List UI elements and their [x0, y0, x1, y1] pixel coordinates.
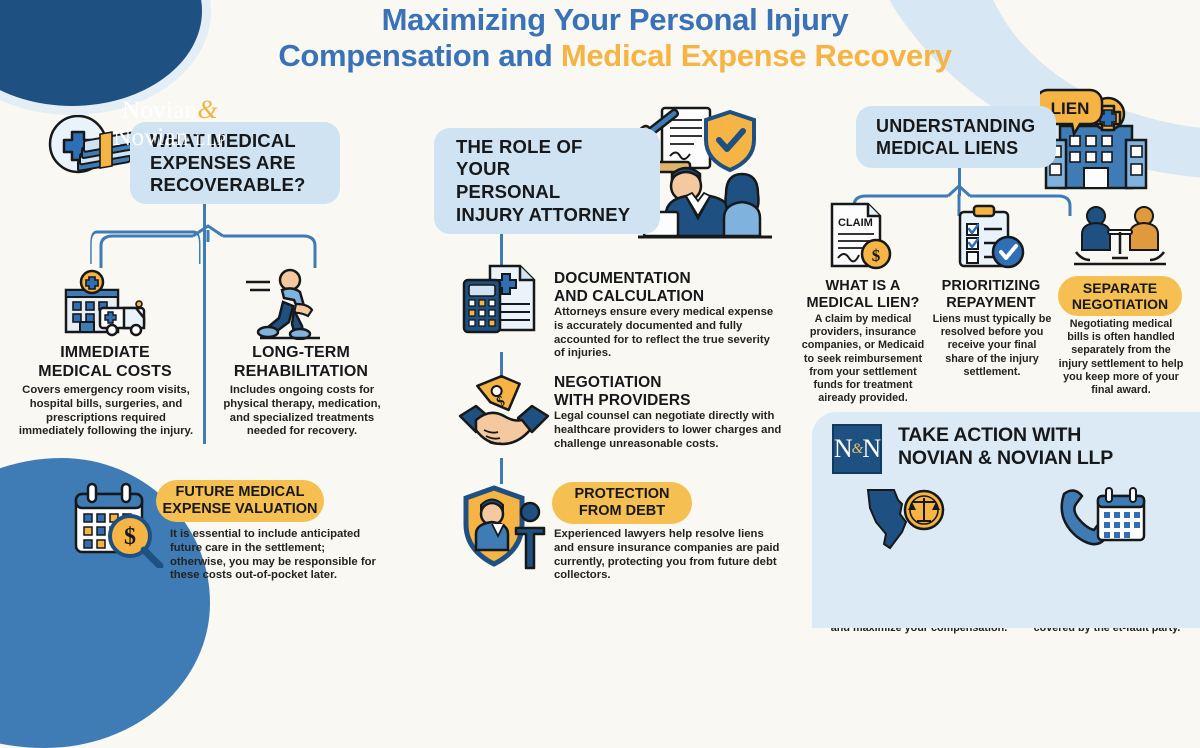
section-right-item-0-body: A claim by medical providers, insurance … — [798, 313, 928, 405]
section-middle-highlight-pill-line2: FROM DEBT — [574, 503, 669, 520]
brand-logo-badge — [0, 0, 202, 106]
section-middle-highlight-pill: PROTECTION FROM DEBT — [552, 482, 692, 524]
cta-heading: TAKE ACTION WITH NOVIAN & NOVIAN LLP — [898, 424, 1198, 471]
brand-logo-ampersand: & — [197, 95, 218, 124]
section-left-header-line3: RECOVERABLE? — [150, 174, 306, 196]
cta-brand-mark-n2: N — [862, 434, 880, 464]
section-middle-header-line4: INJURY ATTORNEY — [456, 204, 630, 227]
hospital-ambulance-icon — [58, 268, 154, 340]
section-middle-header-line1: THE ROLE OF — [456, 136, 630, 159]
section-middle-header-line3: PERSONAL — [456, 181, 630, 204]
section-right-header: UNDERSTANDING MEDICAL LIENS — [856, 106, 1056, 168]
rehabilitation-person-icon — [238, 268, 330, 340]
connector-left-branches — [93, 230, 323, 270]
svg-text:CLAIM: CLAIM — [838, 217, 873, 229]
section-left-item-0-title-line2: MEDICAL COSTS — [20, 363, 190, 382]
section-left-item-0-body: Covers emergency room visits, hospital b… — [18, 384, 194, 439]
brand-logo-line2: Novian — [113, 124, 188, 151]
section-middle-item-0-title-line1: DOCUMENTATION — [554, 270, 784, 288]
section-left-highlight-body: It is essential to include anticipated f… — [170, 528, 380, 583]
section-middle-item-0-title: DOCUMENTATION AND CALCULATION — [554, 270, 784, 306]
claim-document-dollar-icon: CLAIM $ — [826, 202, 894, 272]
section-left-item-0-title: IMMEDIATE MEDICAL COSTS — [20, 344, 190, 381]
section-right-item-1-title: PRIORITIZING REPAYMENT — [928, 278, 1054, 312]
section-left-highlight-pill-line2: EXPENSE VALUATION — [163, 501, 318, 518]
cta-brand-mark: N&N — [832, 424, 882, 474]
section-left-highlight-pill: FUTURE MEDICAL EXPENSE VALUATION — [156, 480, 324, 522]
cta-heading-line1: TAKE ACTION WITH — [898, 424, 1198, 447]
svg-text:$: $ — [872, 246, 881, 265]
section-left-item-1-title: LONG-TERM REHABILITATION — [216, 344, 386, 381]
page-title-line1: Maximizing Your Personal Injury — [200, 2, 1030, 38]
calendar-magnifier-dollar-icon: $ — [70, 482, 166, 568]
section-middle-header: THE ROLE OF YOUR PERSONAL INJURY ATTORNE… — [434, 128, 660, 234]
section-middle-item-0-title-line2: AND CALCULATION — [554, 288, 784, 306]
brand-logo-line1: Novian — [122, 97, 197, 124]
brand-logo-llp: LLP — [195, 132, 226, 149]
california-scales-icon — [862, 488, 948, 550]
connector-middle-stem-3 — [500, 458, 503, 484]
section-left-header-line2: EXPENSES ARE — [150, 152, 306, 174]
connector-left-stem-down — [203, 230, 206, 444]
calculator-medical-document-icon — [462, 262, 544, 338]
section-left-item-1-title-line2: REHABILITATION — [216, 363, 386, 382]
section-right-item-0-title: WHAT IS A MEDICAL LIEN? — [798, 278, 928, 312]
two-people-table-negotiation-icon — [1072, 204, 1168, 270]
cta-heading-line2: NOVIAN & NOVIAN LLP — [898, 447, 1198, 470]
section-middle-item-1-title-line1: NEGOTIATION — [554, 374, 784, 392]
page-title-line2-accent: Medical Expense Recovery — [561, 38, 952, 73]
section-left-item-1-title-line1: LONG-TERM — [216, 344, 386, 363]
section-right-item-0-title-line2: MEDICAL LIEN? — [798, 295, 928, 312]
svg-text:$: $ — [124, 524, 136, 550]
cta-brand-mark-amp: & — [852, 441, 863, 458]
section-right-item-1-body: Liens must typically be resolved before … — [932, 313, 1052, 379]
phone-calendar-icon — [1058, 486, 1148, 550]
section-right-item-2-title-pill: SEPARATE NEGOTIATION — [1058, 276, 1182, 316]
shield-person-protection-icon — [460, 484, 552, 572]
section-middle-item-1-title-line2: WITH PROVIDERS — [554, 392, 784, 410]
section-middle-item-1-title: NEGOTIATION WITH PROVIDERS — [554, 374, 784, 410]
checklist-clipboard-check-icon — [954, 204, 1026, 270]
page-title-line2-plain: Compensation and — [278, 38, 561, 73]
cta-brand-mark-n1: N — [834, 434, 852, 464]
section-left-item-0-title-line1: IMMEDIATE — [20, 344, 190, 363]
brand-logo-text: Novian& Novian LLP — [70, 96, 270, 151]
section-right-item-1-title-line1: PRIORITIZING — [928, 278, 1054, 295]
lien-bubble-label: LIEN — [1051, 99, 1090, 118]
hospital-lien-bubble-icon: LIEN — [1040, 84, 1160, 194]
section-middle-header-line2: YOUR — [456, 158, 630, 181]
section-right-header-line1: UNDERSTANDING — [876, 115, 1035, 137]
section-left-highlight-pill-line1: FUTURE MEDICAL — [163, 484, 318, 501]
section-middle-highlight-body: Experienced lawyers help resolve liens a… — [554, 528, 784, 583]
section-right-item-0-title-line1: WHAT IS A — [798, 278, 928, 295]
section-middle-highlight-pill-line1: PROTECTION — [574, 486, 669, 503]
page-title-line2: Compensation and Medical Expense Recover… — [200, 38, 1030, 74]
section-left-item-1-body: Includes ongoing costs for physical ther… — [222, 384, 382, 439]
page-title: Maximizing Your Personal Injury Compensa… — [200, 2, 1030, 75]
section-middle-item-0-body: Attorneys ensure every medical expense i… — [554, 306, 782, 361]
section-right-item-1-title-line2: REPAYMENT — [928, 295, 1054, 312]
section-middle-item-1-body: Legal counsel can negotiate directly wit… — [554, 410, 782, 451]
section-right-item-2-title-line1: SEPARATE — [1072, 280, 1168, 296]
section-right-item-2-title-line2: NEGOTIATION — [1072, 296, 1168, 312]
section-right-header-line2: MEDICAL LIENS — [876, 137, 1035, 159]
handshake-pricetag-icon: $ — [458, 372, 550, 448]
section-right-item-2-body: Negotiating medical bills is often handl… — [1058, 318, 1184, 397]
